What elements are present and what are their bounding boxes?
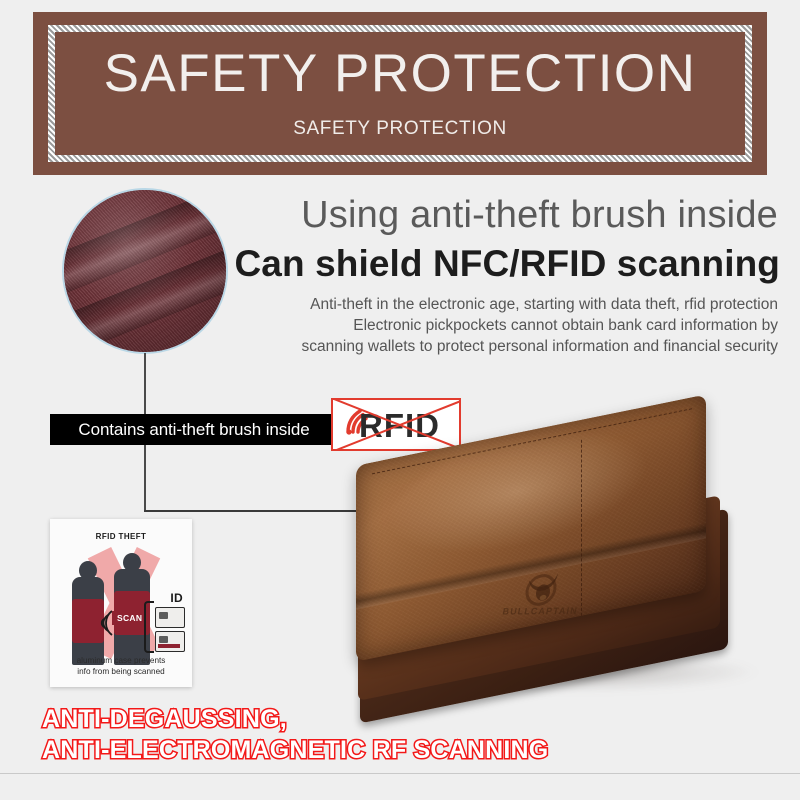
theft-card-caption: aluminum case prevents info from being s… bbox=[50, 655, 192, 677]
claim-line-1: ANTI-DEGAUSSING, bbox=[42, 704, 548, 735]
wallet-brand-name: BULLCAPTAIN bbox=[502, 606, 579, 617]
body-copy-line-1: Anti-theft in the electronic age, starti… bbox=[218, 294, 778, 315]
rfid-theft-infographic-card: RFID THEFT SCAN ID bbox=[50, 519, 192, 687]
claim-line-2: ANTI-ELECTROMAGNETIC RF SCANNING bbox=[42, 735, 548, 766]
theft-card-title: RFID THEFT bbox=[50, 532, 192, 541]
headline-primary: Using anti-theft brush inside bbox=[301, 194, 778, 237]
anti-theft-banner: Contains anti-theft brush inside bbox=[50, 414, 338, 445]
anti-theft-brush-fabric-swatch bbox=[62, 188, 228, 354]
body-copy-line-2: Electronic pickpockets cannot obtain ban… bbox=[218, 315, 778, 336]
fabric-shading bbox=[64, 190, 226, 352]
product-feature-banner: SAFETY PROTECTION SAFETY PROTECTION Usin… bbox=[0, 0, 800, 800]
id-brace-icon bbox=[144, 601, 154, 653]
wallet-stitching bbox=[581, 440, 582, 626]
page-subtitle: SAFETY PROTECTION bbox=[293, 118, 507, 140]
scan-label: SCAN bbox=[112, 611, 147, 625]
body-copy-line-3: scanning wallets to protect personal inf… bbox=[218, 336, 778, 357]
header-content: SAFETY PROTECTION SAFETY PROTECTION bbox=[33, 12, 767, 175]
bottom-divider bbox=[0, 773, 800, 774]
id-card-icon bbox=[155, 607, 185, 628]
wallet-product-image: BULLCAPTAIN bbox=[352, 420, 798, 730]
anti-scanning-claim: ANTI-DEGAUSSING, ANTI-ELECTROMAGNETIC RF… bbox=[42, 704, 548, 766]
headline-secondary: Can shield NFC/RFID scanning bbox=[234, 243, 780, 285]
bank-card-icon bbox=[155, 631, 185, 652]
anti-theft-banner-label: Contains anti-theft brush inside bbox=[78, 420, 309, 440]
body-copy: Anti-theft in the electronic age, starti… bbox=[218, 294, 778, 357]
theft-caption-line-1: aluminum case prevents bbox=[50, 655, 192, 666]
theft-caption-line-2: info from being scanned bbox=[50, 666, 192, 677]
id-label: ID bbox=[170, 591, 183, 605]
page-title: SAFETY PROTECTION bbox=[104, 47, 697, 100]
header-band: SAFETY PROTECTION SAFETY PROTECTION bbox=[33, 12, 767, 175]
